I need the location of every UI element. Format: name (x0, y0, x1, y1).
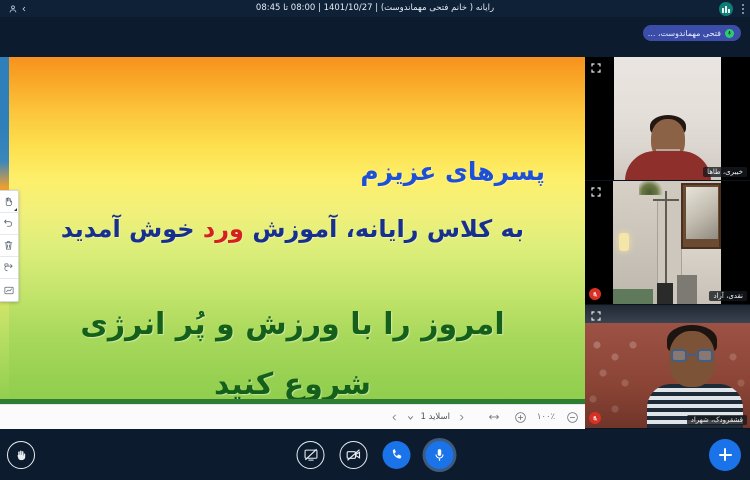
top-bar: رایانه ( خانم فتحی مهماندوست) | 1401/10/… (0, 0, 750, 17)
microphone-icon (433, 448, 447, 462)
slide-zoom-group: ۱۰۰٪ (475, 405, 585, 429)
slide-line2-part-b: خوش آمدید (61, 215, 203, 243)
slide-body-line-1: امروز را با ورزش و پُر انرژی (0, 307, 585, 342)
redo-tool[interactable] (0, 257, 18, 279)
chevron-left-icon (20, 5, 28, 13)
chevron-down-icon (406, 413, 415, 422)
video-tile[interactable]: قشقرودک، شهراد (585, 305, 750, 429)
expand-fullscreen-icon[interactable] (590, 62, 602, 74)
presenter-chip[interactable]: فتحی مهماندوست، ... (643, 25, 741, 41)
participant-name-label: خیبری، طاها (703, 167, 747, 177)
slide-line2-part-a: به کلاس رایانه، آموزش (244, 215, 524, 243)
app-logo-bars-icon (717, 2, 735, 16)
participant-name-label: قشقرودک، شهراد (687, 415, 747, 425)
zoom-in-plus-icon (514, 411, 527, 424)
microphone-muted-icon (589, 288, 601, 300)
phone-call-icon (389, 447, 404, 462)
slide-body-line-2: شروع کنید (0, 367, 585, 402)
zoom-level-label: ۱۰۰٪ (533, 412, 559, 422)
video-feed (585, 181, 750, 304)
presentation-stage: پسرهای عزیزم به کلاس رایانه، آموزش ورد خ… (0, 57, 585, 429)
user-account-button[interactable] (8, 0, 28, 17)
add-participant-button[interactable] (709, 439, 741, 471)
slide-toolbar: ۱۰۰٪ (0, 404, 585, 429)
expand-fullscreen-icon[interactable] (590, 310, 602, 322)
slide-number-label[interactable]: اسلاید 1 (418, 412, 452, 422)
trash-icon (3, 240, 14, 251)
screen-share-off-icon (303, 447, 318, 462)
camera-button[interactable] (340, 441, 368, 469)
camera-off-icon (346, 447, 362, 463)
phone-call-button[interactable] (383, 441, 411, 469)
meeting-control-bar (0, 429, 750, 480)
undo-tool[interactable] (0, 213, 18, 235)
slide-canvas[interactable]: پسرهای عزیزم به کلاس رایانه، آموزش ورد خ… (0, 57, 585, 404)
zoom-in-button[interactable] (507, 405, 533, 429)
slide-heading-line-1: پسرهای عزیزم (360, 157, 545, 186)
scene-plant (639, 181, 665, 195)
avatar-glasses (671, 349, 713, 362)
scene-floor (613, 289, 653, 305)
video-tiles-column: خیبری، طاها (585, 57, 750, 429)
expand-fullscreen-icon[interactable] (590, 186, 602, 198)
raise-hand-button[interactable] (7, 441, 35, 469)
scene-chair (677, 275, 697, 305)
presenter-chip-row: فتحی مهماندوست، ... (0, 23, 750, 45)
user-account-icon (8, 4, 18, 14)
slide-nav-group: اسلاید 1 (386, 405, 475, 429)
avatar-body (625, 151, 711, 181)
redo-arrow-icon (3, 262, 14, 273)
slide-select-dropdown[interactable] (403, 405, 417, 429)
undo-arrow-icon (3, 218, 14, 229)
primary-controls (297, 441, 454, 469)
video-image (585, 305, 750, 428)
delete-tool[interactable] (0, 235, 18, 257)
scene-lamp (619, 233, 629, 251)
video-feed (585, 57, 750, 180)
video-image (614, 57, 721, 181)
fit-width-icon (488, 411, 500, 423)
scene-pole (665, 191, 667, 287)
line-chart-icon (3, 285, 15, 296)
slide-line2-highlight: ورد (203, 215, 244, 243)
video-tile[interactable]: خیبری، طاها (585, 57, 750, 181)
chevron-next-icon (457, 412, 466, 423)
prev-slide-button[interactable] (386, 405, 402, 429)
annotation-toolbar (0, 190, 19, 302)
meeting-app-window: رایانه ( خانم فتحی مهماندوست) | 1401/10/… (0, 0, 750, 480)
scene-bin (657, 283, 673, 305)
participant-name-label: نقدی، آراد (709, 291, 747, 301)
screenshare-button[interactable] (297, 441, 325, 469)
meeting-title: رایانه ( خانم فتحی مهماندوست) | 1401/10/… (0, 0, 750, 17)
video-tile[interactable]: نقدی، آراد (585, 181, 750, 305)
raise-hand-icon (14, 448, 28, 462)
video-image (613, 181, 721, 305)
microphone-muted-icon (589, 412, 601, 424)
hand-icon (3, 196, 14, 207)
dots-menu-icon[interactable] (736, 0, 750, 17)
pan-hand-tool[interactable] (0, 191, 18, 213)
microphone-button[interactable] (426, 441, 454, 469)
line-draw-tool[interactable] (0, 279, 18, 301)
video-feed (585, 305, 750, 428)
scene-cabinet-glass (686, 187, 718, 239)
presenter-chip-name: فتحی مهماندوست، ... (648, 29, 721, 38)
next-slide-button[interactable] (453, 405, 469, 429)
microphone-active-icon (725, 29, 734, 38)
zoom-out-minus-icon (566, 411, 579, 424)
tool-dropdown-caret[interactable] (14, 208, 17, 211)
scene-back-wall (585, 305, 750, 323)
slide-heading-line-2: به کلاس رایانه، آموزش ورد خوش آمدید (0, 215, 585, 243)
fit-width-button[interactable] (481, 405, 507, 429)
chevron-prev-icon (390, 412, 399, 423)
zoom-out-button[interactable] (559, 405, 585, 429)
